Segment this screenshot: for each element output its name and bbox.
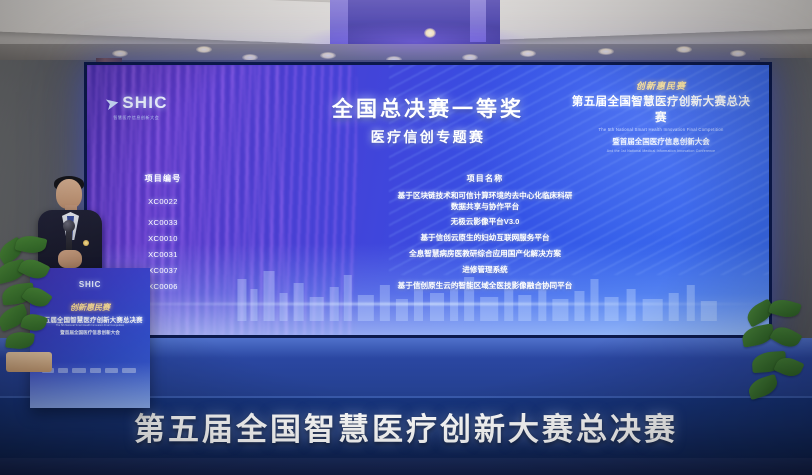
- table-row: XC0010基于信创云原生的妇幼互联网服务平台: [107, 233, 751, 243]
- led-screen: ➤ SHIC 智慧医疗信息创新大会 创新惠民赛 第五届全国智慧医疗创新大赛总决赛…: [84, 62, 772, 338]
- event-banner-english-2: And the 1st National Medical Information…: [567, 149, 755, 153]
- cell-project-name: 基于信创云原生的妇幼互联网服务平台: [219, 233, 751, 243]
- downlight: [196, 46, 212, 53]
- downlight: [598, 48, 614, 55]
- downlight: [520, 50, 536, 57]
- cell-project-code: XC0010: [107, 234, 219, 243]
- cell-project-name: 基于区块链技术和可信计算环境的去中心化临床科研数据共享与协作平台: [219, 191, 751, 212]
- ceiling-panel-right: [490, 0, 812, 40]
- column-header-code: 项目编号: [107, 173, 219, 184]
- ceiling-panel-left: [0, 0, 340, 45]
- table-row: XC0031全息智慧病房医教研综合应用国产化解决方案: [107, 249, 751, 259]
- plant-pot-left: [6, 352, 52, 372]
- table-row: XC0022基于区块链技术和可信计算环境的去中心化临床科研数据共享与协作平台: [107, 191, 751, 212]
- cell-project-name: 无极云影像平台V3.0: [219, 217, 751, 227]
- conference-hall-photo: ➤ SHIC 智慧医疗信息创新大会 创新惠民赛 第五届全国智慧医疗创新大赛总决赛…: [0, 0, 812, 475]
- cell-project-code: XC0022: [107, 197, 219, 206]
- downlight: [112, 50, 128, 57]
- stage-banner-text: 第五届全国智慧医疗创新大赛总决赛: [0, 404, 812, 449]
- cell-project-name: 基于信创原生云的智能区域全医技影像融合协同平台: [219, 281, 751, 291]
- cell-project-code: XC0033: [107, 218, 219, 227]
- award-headline: 全国总决赛一等奖: [87, 93, 769, 123]
- microphone-icon: [63, 220, 75, 232]
- screen-horizon-line: [87, 303, 769, 305]
- cell-project-name: 进修管理系统: [219, 265, 751, 275]
- potted-plant-left: [0, 236, 60, 368]
- table-row: XC0037进修管理系统: [107, 265, 751, 275]
- led-screen-content: ➤ SHIC 智慧医疗信息创新大会 创新惠民赛 第五届全国智慧医疗创新大赛总决赛…: [87, 65, 769, 335]
- potted-plant-right: [742, 300, 812, 410]
- cell-project-code: XC0031: [107, 250, 219, 259]
- event-banner-script: 创新惠民赛: [567, 79, 755, 92]
- downlight: [730, 50, 746, 57]
- award-subline: 医疗信创专题赛: [87, 127, 769, 147]
- ceiling: [0, 0, 812, 62]
- downlight: [320, 52, 336, 59]
- table-row: XC0006基于信创原生云的智能区域全医技影像融合协同平台: [107, 281, 751, 291]
- speaker-lapel-pin: [83, 240, 89, 246]
- results-table: 项目编号 项目名称 XC0022基于区块链技术和可信计算环境的去中心化临床科研数…: [107, 173, 751, 297]
- table-header-row: 项目编号 项目名称: [107, 173, 751, 184]
- speaker-hands: [58, 250, 82, 268]
- downlight: [424, 28, 436, 38]
- cell-project-name: 全息智慧病房医教研综合应用国产化解决方案: [219, 249, 751, 259]
- column-header-name: 项目名称: [219, 173, 751, 184]
- table-row: XC0033无极云影像平台V3.0: [107, 217, 751, 227]
- floor: [0, 458, 812, 475]
- downlight: [676, 46, 692, 53]
